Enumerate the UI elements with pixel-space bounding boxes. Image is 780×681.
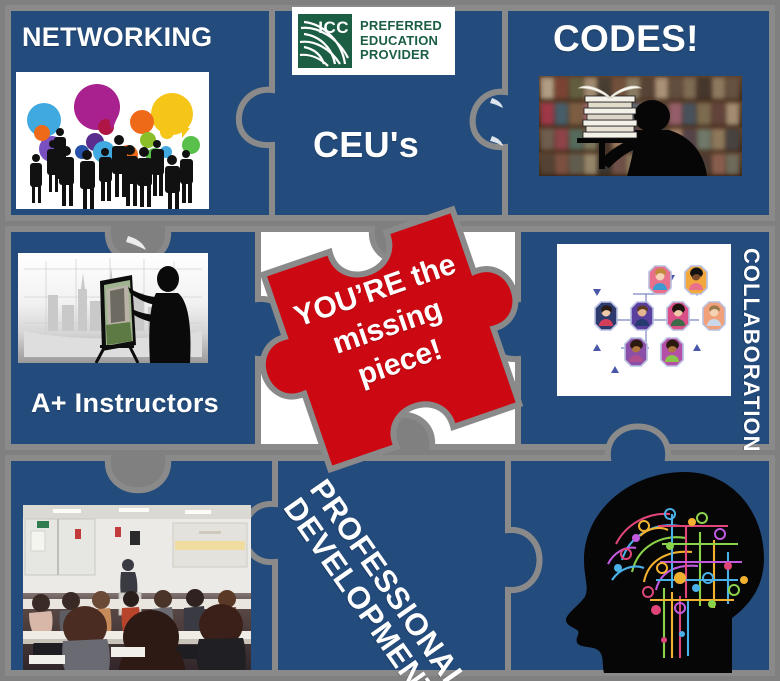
icc-word-line1: PREFERRED (360, 19, 442, 34)
icc-mark-text: ICC (318, 18, 349, 38)
icc-preferred-education-provider-logo[interactable]: ICC PREFERRED EDUCATION PROVIDER (292, 7, 455, 75)
icc-logo-wordmark: PREFERRED EDUCATION PROVIDER (360, 19, 442, 63)
label-codes: CODES! (553, 18, 699, 60)
codes-books-image[interactable] (539, 76, 742, 176)
label-instructors: A+ Instructors (31, 388, 219, 419)
networking-image[interactable] (14, 70, 211, 211)
label-networking: NETWORKING (22, 22, 212, 53)
icc-word-line3: PROVIDER (360, 48, 442, 63)
collaboration-image[interactable] (557, 244, 731, 396)
puzzle-infographic: NETWORKING (0, 0, 780, 681)
icc-word-line2: EDUCATION (360, 34, 442, 49)
label-collaboration: COLLABORATION (738, 248, 764, 452)
label-ceus: CEU's (313, 124, 419, 166)
icc-globe-grid-icon: ICC (298, 14, 352, 68)
classroom-image[interactable] (23, 505, 251, 670)
circuit-brain-image[interactable] (552, 468, 774, 673)
instructor-image[interactable] (18, 253, 208, 363)
